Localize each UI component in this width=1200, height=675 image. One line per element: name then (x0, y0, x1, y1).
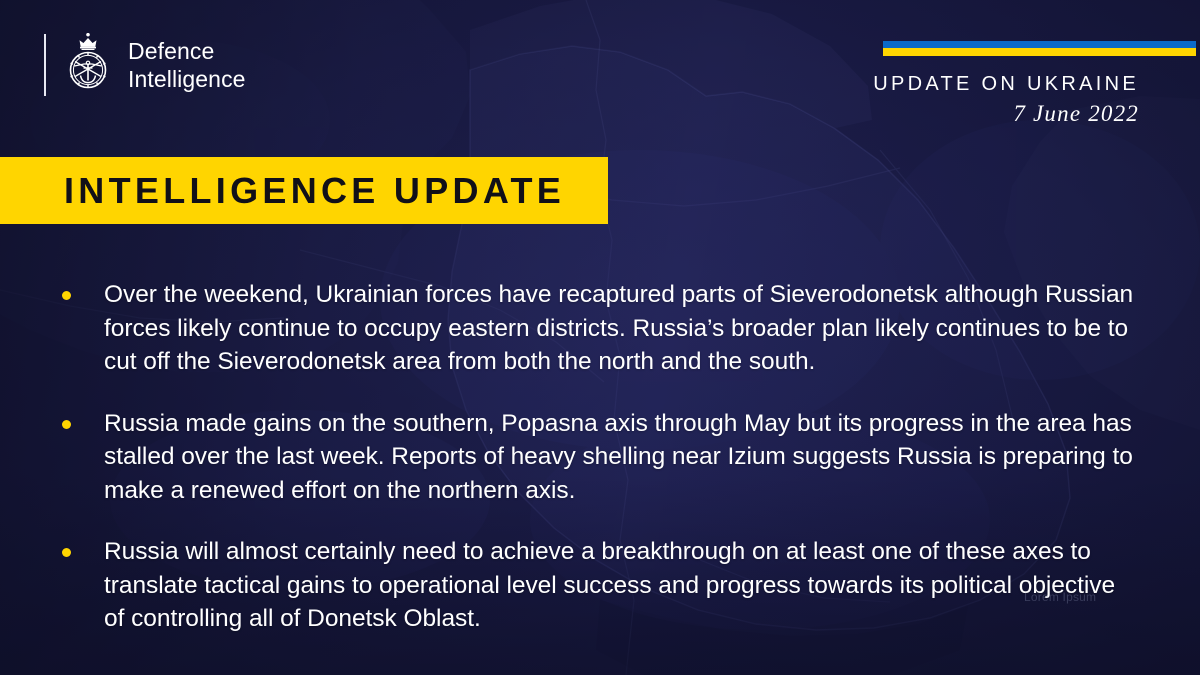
flag-stripe-blue (883, 41, 1196, 48)
flag-stripe-yellow (883, 48, 1196, 56)
update-on-ukraine-label: UPDATE ON UKRAINE (0, 73, 1139, 96)
list-item: Over the weekend, Ukrainian forces have … (62, 278, 1142, 379)
intelligence-update-banner: INTELLIGENCE UPDATE (0, 157, 608, 224)
bullet-text: Over the weekend, Ukrainian forces have … (104, 278, 1142, 379)
list-item: Russia made gains on the southern, Popas… (62, 407, 1142, 508)
bullet-dot-icon (62, 420, 71, 429)
ukraine-flag-bar (883, 41, 1196, 56)
update-date: 7 June 2022 (0, 101, 1139, 127)
bullet-text: Russia will almost certainly need to ach… (104, 535, 1142, 636)
bullet-dot-icon (62, 291, 71, 300)
brand-name-line1: Defence (128, 37, 246, 65)
intelligence-update-slide: Defence Intelligence UPDATE ON UKRAINE 7… (0, 0, 1200, 675)
bullet-dot-icon (62, 548, 71, 557)
list-item: Russia will almost certainly need to ach… (62, 535, 1142, 636)
watermark-text: Lorem Ipsum (1024, 590, 1096, 604)
page-title: INTELLIGENCE UPDATE (0, 170, 565, 212)
bullet-list: Over the weekend, Ukrainian forces have … (62, 278, 1142, 636)
bullet-text: Russia made gains on the southern, Popas… (104, 407, 1142, 508)
